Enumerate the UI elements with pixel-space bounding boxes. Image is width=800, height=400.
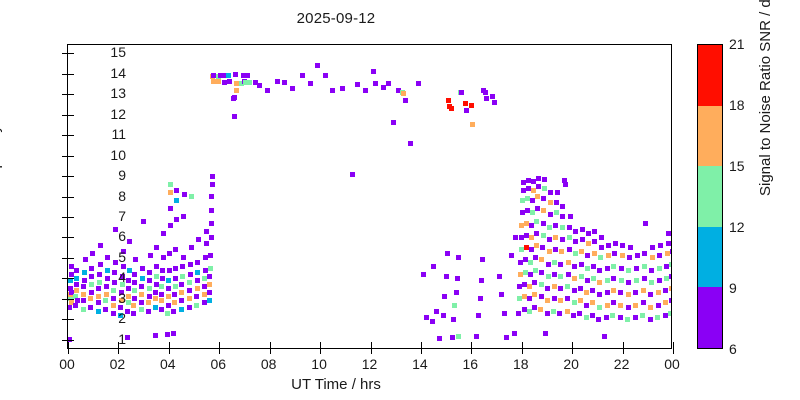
data-marker — [605, 290, 610, 295]
data-marker — [642, 276, 647, 281]
data-marker — [655, 315, 660, 320]
data-marker — [195, 260, 200, 265]
colorbar-tick-label: 9 — [729, 280, 737, 296]
data-marker — [371, 69, 376, 74]
data-marker — [642, 264, 647, 269]
data-marker — [670, 249, 671, 254]
x-tick-inner — [219, 342, 220, 348]
data-marker — [434, 309, 439, 314]
x-tick — [371, 348, 372, 354]
data-marker — [173, 247, 178, 252]
x-tick-inner — [320, 342, 321, 348]
data-marker — [476, 313, 481, 318]
data-marker — [648, 292, 653, 297]
data-marker — [566, 260, 571, 265]
y-tick-label: 4 — [66, 269, 126, 285]
data-marker — [131, 303, 136, 308]
data-marker — [591, 264, 596, 269]
data-marker — [147, 294, 152, 299]
data-marker — [579, 274, 584, 279]
data-marker — [127, 239, 132, 244]
data-marker — [580, 227, 585, 232]
data-marker — [541, 233, 546, 238]
y-tick-label: 15 — [66, 44, 126, 60]
colorbar-title: Signal to Noise Ratio SNR / dB — [757, 0, 774, 196]
data-marker — [591, 276, 596, 281]
data-marker — [635, 253, 640, 258]
data-marker — [469, 103, 474, 108]
data-marker — [146, 300, 151, 305]
data-marker — [656, 303, 661, 308]
data-marker — [463, 101, 468, 106]
data-marker — [204, 229, 209, 234]
data-marker — [154, 264, 159, 269]
data-marker — [551, 309, 556, 314]
data-marker — [516, 311, 521, 316]
data-marker — [572, 288, 577, 293]
data-marker — [560, 204, 565, 209]
data-marker — [618, 315, 623, 320]
x-tick — [471, 348, 472, 354]
data-marker — [172, 292, 177, 297]
data-marker — [648, 317, 653, 322]
data-marker — [534, 219, 539, 224]
data-marker — [416, 81, 421, 86]
data-marker — [161, 255, 166, 260]
data-marker — [195, 270, 200, 275]
data-marker — [127, 268, 132, 273]
data-marker — [159, 307, 164, 312]
colorbar-band — [698, 227, 722, 288]
data-marker — [188, 262, 193, 267]
data-marker — [547, 237, 552, 242]
data-marker — [546, 274, 551, 279]
data-marker — [547, 225, 552, 230]
data-marker — [586, 231, 591, 236]
data-marker — [153, 296, 158, 301]
data-marker — [563, 182, 568, 187]
y-tick-label: 2 — [66, 310, 126, 326]
y-axis-title: Frequency / MHz — [0, 82, 3, 196]
data-marker — [565, 309, 570, 314]
x-tick-label: 12 — [345, 356, 395, 372]
data-marker — [579, 249, 584, 254]
data-marker — [592, 229, 597, 234]
data-marker — [566, 272, 571, 277]
data-marker — [533, 268, 538, 273]
data-marker — [165, 332, 170, 337]
data-marker — [606, 253, 611, 258]
data-marker — [567, 225, 572, 230]
data-marker — [452, 303, 457, 308]
data-marker — [159, 292, 164, 297]
data-marker — [139, 307, 144, 312]
data-marker — [565, 296, 570, 301]
data-marker — [454, 290, 459, 295]
x-tick-inner — [371, 342, 372, 348]
data-marker — [470, 122, 475, 127]
data-marker — [620, 243, 625, 248]
data-marker — [148, 253, 153, 258]
data-marker — [195, 286, 200, 291]
data-marker — [613, 241, 618, 246]
data-marker — [640, 313, 645, 318]
data-marker — [189, 245, 194, 250]
data-marker — [165, 311, 170, 316]
data-canvas — [68, 45, 671, 348]
data-marker — [168, 206, 173, 211]
data-marker — [154, 245, 159, 250]
data-marker — [539, 257, 544, 262]
data-marker — [536, 176, 541, 181]
data-marker — [592, 239, 597, 244]
y-tick-label: 11 — [66, 126, 126, 142]
data-marker — [444, 274, 449, 279]
data-marker — [605, 303, 610, 308]
data-marker — [641, 300, 646, 305]
colorbar-tick-label: 15 — [729, 158, 745, 174]
data-marker — [585, 266, 590, 271]
data-marker — [168, 182, 173, 187]
data-marker — [657, 278, 662, 283]
data-marker — [620, 253, 625, 258]
data-marker — [552, 260, 557, 265]
data-marker — [208, 253, 213, 258]
data-marker — [153, 290, 158, 295]
data-marker — [483, 90, 488, 95]
data-marker — [540, 245, 545, 250]
data-marker — [633, 315, 638, 320]
x-tick-label: 22 — [597, 356, 647, 372]
data-marker — [126, 278, 131, 283]
data-marker — [585, 253, 590, 258]
data-marker — [539, 294, 544, 299]
page-title: 2025-09-12 — [0, 10, 672, 27]
data-marker — [649, 280, 654, 285]
data-marker — [543, 331, 548, 336]
data-marker — [181, 255, 186, 260]
data-marker — [168, 190, 173, 195]
data-marker — [126, 294, 131, 299]
data-marker — [553, 223, 558, 228]
data-marker — [408, 141, 413, 146]
data-marker — [559, 249, 564, 254]
data-marker — [548, 212, 553, 217]
data-marker — [666, 231, 671, 236]
x-tick — [572, 348, 573, 354]
data-marker — [539, 282, 544, 287]
colorbar-tick-label: 18 — [729, 97, 745, 113]
data-marker — [610, 313, 615, 318]
data-marker — [179, 307, 184, 312]
data-marker — [558, 286, 563, 291]
data-marker — [571, 313, 576, 318]
ionogram-snr-plot: 2025-09-12 123456789101112131415 0002040… — [0, 0, 800, 400]
data-marker — [650, 245, 655, 250]
data-marker — [552, 284, 557, 289]
data-marker — [535, 206, 540, 211]
data-marker — [619, 266, 624, 271]
data-marker — [455, 276, 460, 281]
data-marker — [669, 274, 671, 279]
data-marker — [140, 276, 145, 281]
data-marker — [656, 290, 661, 295]
plot-area — [67, 44, 672, 349]
data-marker — [194, 294, 199, 299]
data-marker — [484, 96, 489, 101]
data-marker — [189, 194, 194, 199]
y-tick-label: 13 — [66, 85, 126, 101]
x-tick-inner — [471, 342, 472, 348]
data-marker — [171, 309, 176, 314]
data-marker — [597, 292, 602, 297]
data-marker — [547, 249, 552, 254]
data-marker — [669, 286, 672, 291]
data-marker — [210, 174, 215, 179]
data-marker — [605, 278, 610, 283]
data-marker — [553, 235, 558, 240]
data-marker — [539, 270, 544, 275]
data-marker — [536, 184, 541, 189]
x-tick-label: 00 — [42, 356, 92, 372]
data-marker — [182, 192, 187, 197]
data-marker — [179, 290, 184, 295]
data-marker — [542, 177, 547, 182]
data-marker — [492, 100, 497, 105]
data-marker — [391, 120, 396, 125]
data-marker — [174, 217, 179, 222]
data-marker — [207, 274, 212, 279]
data-marker — [340, 86, 345, 91]
data-marker — [590, 313, 595, 318]
data-marker — [565, 284, 570, 289]
x-tick-inner — [623, 342, 624, 348]
data-marker — [265, 88, 270, 93]
data-marker — [459, 90, 464, 95]
data-marker — [204, 241, 209, 246]
x-tick — [421, 348, 422, 354]
data-marker — [625, 317, 630, 322]
data-marker — [479, 278, 484, 283]
colorbar-band — [698, 45, 722, 106]
data-marker — [210, 182, 215, 187]
data-marker — [597, 268, 602, 273]
data-marker — [657, 266, 662, 271]
data-marker — [424, 315, 429, 320]
data-marker — [545, 286, 550, 291]
data-marker — [643, 221, 648, 226]
colorbar-tick-label: 6 — [729, 341, 737, 357]
y-tick-label: 5 — [66, 249, 126, 265]
data-marker — [456, 255, 461, 260]
data-marker — [627, 255, 632, 260]
data-marker — [552, 272, 557, 277]
data-marker — [558, 274, 563, 279]
x-tick — [118, 348, 119, 354]
data-marker — [650, 255, 655, 260]
data-marker — [373, 81, 378, 86]
data-marker — [580, 237, 585, 242]
data-marker — [478, 296, 483, 301]
data-marker — [464, 108, 469, 113]
data-marker — [541, 208, 546, 213]
data-marker — [560, 214, 565, 219]
data-marker — [552, 296, 557, 301]
data-marker — [657, 253, 662, 258]
y-tick-label: 1 — [66, 331, 126, 347]
x-axis-title: UT Time / hrs — [0, 376, 672, 393]
data-marker — [168, 223, 173, 228]
data-marker — [634, 278, 639, 283]
data-marker — [330, 88, 335, 93]
data-marker — [606, 243, 611, 248]
data-marker — [300, 73, 305, 78]
x-tick-inner — [673, 342, 674, 348]
data-marker — [596, 317, 601, 322]
y-tick-label: 3 — [66, 290, 126, 306]
data-marker — [480, 257, 485, 262]
data-marker — [642, 251, 647, 256]
data-marker — [567, 247, 572, 252]
data-marker — [159, 298, 164, 303]
data-marker — [133, 257, 138, 262]
data-marker — [497, 274, 502, 279]
data-marker — [499, 292, 504, 297]
data-marker — [180, 264, 185, 269]
data-marker — [355, 82, 360, 87]
data-marker — [209, 194, 214, 199]
x-tick-label: 20 — [546, 356, 596, 372]
data-marker — [421, 272, 426, 277]
data-marker — [147, 286, 152, 291]
data-marker — [132, 288, 137, 293]
data-marker — [548, 200, 553, 205]
x-tick-label: 06 — [193, 356, 243, 372]
data-marker — [187, 288, 192, 293]
data-marker — [350, 172, 355, 177]
data-marker — [502, 311, 507, 316]
data-marker — [577, 311, 582, 316]
data-marker — [446, 98, 451, 103]
data-marker — [323, 73, 328, 78]
data-marker — [160, 268, 165, 273]
data-marker — [578, 298, 583, 303]
data-marker — [618, 303, 623, 308]
data-marker — [626, 280, 631, 285]
data-marker — [584, 290, 589, 295]
x-tick-inner — [572, 342, 573, 348]
data-marker — [147, 278, 152, 283]
data-marker — [599, 245, 604, 250]
data-marker — [456, 334, 461, 339]
data-marker — [504, 335, 509, 340]
data-marker — [180, 274, 185, 279]
x-tick-inner — [270, 342, 271, 348]
data-marker — [602, 334, 607, 339]
data-marker — [173, 266, 178, 271]
data-marker — [449, 106, 454, 111]
data-marker — [626, 268, 631, 273]
data-marker — [139, 292, 144, 297]
y-tick-label: 9 — [66, 167, 126, 183]
x-tick-label: 02 — [92, 356, 142, 372]
data-marker — [216, 79, 221, 84]
data-marker — [209, 235, 214, 240]
data-marker — [633, 303, 638, 308]
x-tick-inner — [169, 342, 170, 348]
data-marker — [188, 272, 193, 277]
data-marker — [532, 280, 537, 285]
data-marker — [532, 305, 537, 310]
data-marker — [166, 303, 171, 308]
data-marker — [194, 303, 199, 308]
data-marker — [658, 243, 663, 248]
data-marker — [513, 235, 518, 240]
y-tick-label: 10 — [66, 147, 126, 163]
data-marker — [579, 262, 584, 267]
data-marker — [167, 251, 172, 256]
data-marker — [431, 264, 436, 269]
data-marker — [669, 262, 671, 267]
data-marker — [209, 208, 214, 213]
data-marker — [548, 190, 553, 195]
data-marker — [560, 237, 565, 242]
x-tick-label: 08 — [244, 356, 294, 372]
data-marker — [159, 284, 164, 289]
data-marker — [592, 251, 597, 256]
data-marker — [668, 311, 671, 316]
data-marker — [141, 219, 146, 224]
data-marker — [257, 83, 262, 88]
data-marker — [605, 266, 610, 271]
data-marker — [167, 268, 172, 273]
data-marker — [275, 79, 280, 84]
data-marker — [207, 298, 212, 303]
data-marker — [451, 317, 456, 322]
data-marker — [234, 88, 239, 93]
colorbar-band — [698, 287, 722, 348]
data-marker — [234, 81, 239, 86]
data-marker — [247, 80, 252, 85]
data-marker — [599, 235, 604, 240]
data-marker — [207, 282, 212, 287]
data-marker — [187, 305, 192, 310]
data-marker — [195, 278, 200, 283]
data-marker — [626, 305, 631, 310]
data-marker — [227, 79, 232, 84]
data-marker — [174, 188, 179, 193]
data-marker — [554, 200, 559, 205]
data-marker — [509, 253, 514, 258]
data-marker — [584, 303, 589, 308]
data-marker — [442, 294, 447, 299]
data-marker — [633, 290, 638, 295]
y-tick-label: 12 — [66, 106, 126, 122]
data-marker — [363, 88, 368, 93]
x-tick-label: 16 — [445, 356, 495, 372]
data-marker — [542, 186, 547, 191]
data-marker — [207, 290, 212, 295]
x-tick — [320, 348, 321, 354]
data-marker — [132, 272, 137, 277]
data-marker — [161, 231, 166, 236]
data-marker — [597, 280, 602, 285]
data-marker — [554, 210, 559, 215]
data-marker — [171, 331, 176, 336]
data-marker — [553, 247, 558, 252]
data-marker — [132, 280, 137, 285]
data-marker — [512, 331, 517, 336]
